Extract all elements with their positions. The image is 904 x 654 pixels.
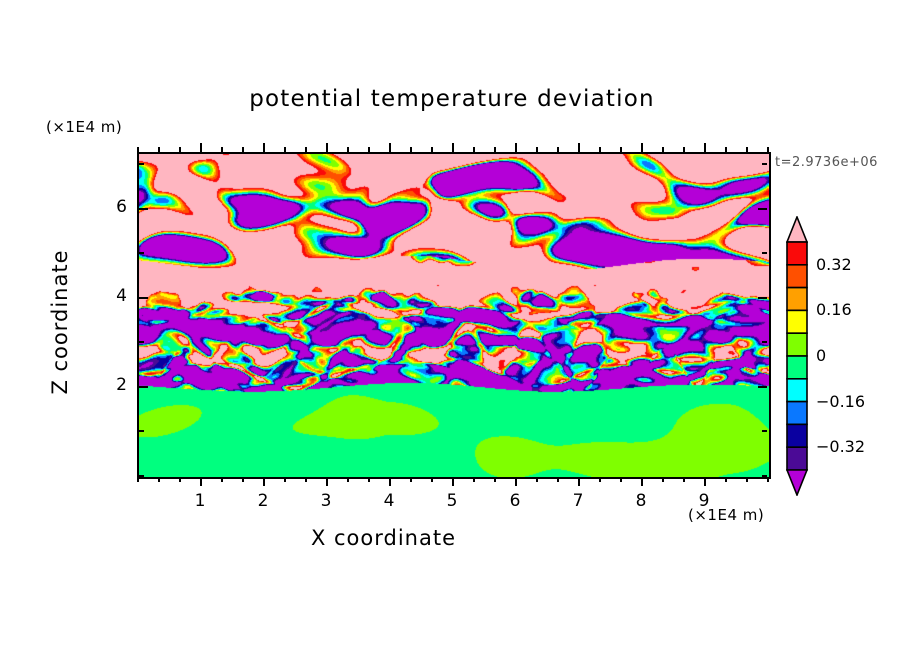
x-tick-major [263,477,265,486]
y-tick-minor-right [762,163,767,165]
x-tick-minor-top [473,147,475,152]
x-tick-minor-top [179,147,181,152]
x-tick-label: 6 [495,491,535,511]
colorbar-band [787,242,807,265]
y-tick-major-right [758,386,767,388]
x-tick-minor [746,477,748,482]
y-tick-minor [139,252,144,254]
x-tick-major-top [641,143,643,152]
x-tick-minor-top [494,147,496,152]
x-tick-major-top [389,143,391,152]
x-tick-label: 4 [369,491,409,511]
x-tick-label: 3 [306,491,346,511]
x-tick-minor [473,477,475,482]
x-tick-major [578,477,580,486]
x-tick-minor [137,477,139,482]
x-tick-minor-top [158,147,160,152]
x-tick-minor-top [683,147,685,152]
colorbar-cap-top [787,217,807,242]
y-tick-minor [139,163,144,165]
x-tick-major-top [263,143,265,152]
x-tick-major-top [326,143,328,152]
colorbar-tick-label: 0 [816,346,826,365]
colorbar-band [787,402,807,425]
colorbar-band [787,379,807,402]
x-tick-minor-top [410,147,412,152]
y-tick-minor-right [762,430,767,432]
page-title: potential temperature deviation [0,86,904,112]
x-axis-units-label: (×1E4 m) [688,506,764,524]
x-tick-major [641,477,643,486]
x-axis-label: X coordinate [0,526,767,550]
x-tick-minor-top [305,147,307,152]
y-tick-label: 2 [95,375,127,395]
x-tick-major-top [515,143,517,152]
x-tick-major-top [578,143,580,152]
x-tick-label: 5 [432,491,472,511]
x-tick-minor [221,477,223,482]
y-tick-minor-right [762,341,767,343]
x-tick-minor [557,477,559,482]
x-tick-minor [179,477,181,482]
y-tick-major [139,386,148,388]
x-tick-major [452,477,454,486]
colorbar-band [787,310,807,333]
x-tick-minor-top [557,147,559,152]
x-tick-minor-top [536,147,538,152]
x-tick-minor [683,477,685,482]
y-tick-minor-right [762,475,767,477]
x-tick-minor-top [368,147,370,152]
y-tick-major-right [758,208,767,210]
colorbar-tick-label: −0.16 [816,392,865,411]
contour-plot-figure: potential temperature deviation (×1E4 m)… [0,0,904,654]
x-tick-major [704,477,706,486]
x-tick-minor [347,477,349,482]
colorbar-band [787,288,807,311]
x-tick-label: 1 [180,491,220,511]
x-tick-label: 2 [243,491,283,511]
x-tick-minor-top [746,147,748,152]
y-tick-major [139,208,148,210]
colorbar-tick-label: −0.32 [816,437,865,456]
y-axis-units-label: (×1E4 m) [46,118,122,136]
x-tick-minor [767,477,769,482]
x-tick-minor [284,477,286,482]
y-tick-minor [139,341,144,343]
x-tick-minor [305,477,307,482]
x-tick-major [389,477,391,486]
x-tick-minor [368,477,370,482]
colorbar-band [787,265,807,288]
x-tick-minor [662,477,664,482]
colorbar-svg [786,216,808,496]
colorbar-cap-bottom [787,470,807,495]
x-tick-label: 8 [621,491,661,511]
plot-area [137,152,771,479]
y-tick-minor [139,475,144,477]
x-tick-minor-top [431,147,433,152]
x-tick-minor-top [725,147,727,152]
x-tick-minor [494,477,496,482]
x-tick-minor [431,477,433,482]
colorbar-band [787,333,807,356]
x-tick-major [326,477,328,486]
y-axis-label: Z coordinate [48,202,72,442]
y-tick-minor [139,430,144,432]
x-tick-major [515,477,517,486]
x-tick-minor [242,477,244,482]
time-annotation: t=2.9736e+06 [775,155,878,170]
x-tick-major-top [200,143,202,152]
y-tick-label: 6 [95,197,127,217]
y-tick-major [139,297,148,299]
x-tick-minor-top [284,147,286,152]
x-tick-minor-top [221,147,223,152]
x-tick-minor-top [137,147,139,152]
colorbar-band [787,447,807,470]
x-tick-minor [158,477,160,482]
y-tick-major-right [758,297,767,299]
x-tick-minor-top [599,147,601,152]
x-tick-minor [410,477,412,482]
colorbar-tick-label: 0.32 [816,255,852,274]
x-tick-minor [536,477,538,482]
x-tick-minor-top [767,147,769,152]
colorbar [786,216,808,496]
x-tick-minor-top [242,147,244,152]
colorbar-tick-label: 0.16 [816,300,852,319]
y-tick-label: 4 [95,286,127,306]
x-tick-minor [725,477,727,482]
x-tick-minor-top [662,147,664,152]
contour-field-canvas [139,154,769,477]
x-tick-minor-top [620,147,622,152]
x-tick-minor [620,477,622,482]
colorbar-band [787,424,807,447]
x-tick-label: 7 [558,491,598,511]
x-tick-major-top [452,143,454,152]
x-tick-major [200,477,202,486]
y-tick-minor-right [762,252,767,254]
colorbar-band [787,356,807,379]
x-tick-major-top [704,143,706,152]
x-tick-minor [599,477,601,482]
x-tick-minor-top [347,147,349,152]
